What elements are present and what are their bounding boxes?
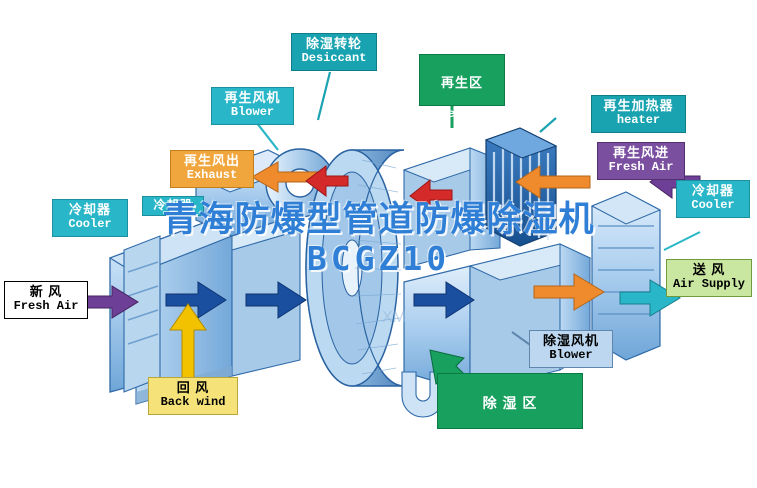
label-regeneration-area-cn: 再生区 [420, 76, 504, 91]
label-desiccant-wheel-en: Desiccant [292, 52, 376, 65]
label-cooler-right-cn: 冷却器 [677, 184, 749, 199]
label-regeneration-area-en: Regenerati on Area [420, 108, 504, 135]
label-back-wind: 回 风 Back wind [148, 377, 238, 415]
label-regeneration-area: 再生区 Regenerati on Area [419, 54, 505, 106]
faint-rotor-text: XM [382, 309, 406, 326]
label-back-wind-cn: 回 风 [149, 381, 237, 396]
label-dehumidification-district-cn: 除 湿 区 [438, 396, 582, 412]
label-regeneration-blower-cn: 再生风机 [212, 91, 293, 106]
watermark-line1: 青海防爆型管道防爆除湿机 [0, 200, 757, 240]
label-dehumidification-district: 除 湿 区 Dehumidification District [437, 373, 583, 429]
label-desiccant-wheel: 除湿转轮 Desiccant [291, 33, 377, 71]
label-desiccant-wheel-cn: 除湿转轮 [292, 37, 376, 52]
label-regeneration-fresh-air: 再生风进 Fresh Air [597, 142, 685, 180]
watermark-line2: BCGZ10 [0, 240, 757, 278]
label-regeneration-fresh-air-en: Fresh Air [598, 161, 684, 174]
label-regeneration-fresh-air-cn: 再生风进 [598, 146, 684, 161]
label-dehumidification-blower-en: Blower [530, 349, 612, 362]
label-fresh-air-cn: 新 风 [5, 285, 87, 300]
watermark-title: 青海防爆型管道防爆除湿机 BCGZ10 [0, 200, 757, 278]
label-back-wind-en: Back wind [149, 396, 237, 409]
label-fresh-air: 新 风 Fresh Air [4, 281, 88, 319]
label-exhaust-en: Exhaust [171, 169, 253, 182]
label-dehumidification-blower-cn: 除湿风机 [530, 334, 612, 349]
label-regeneration-blower-en: Blower [212, 106, 293, 119]
label-exhaust-cn: 再生风出 [171, 154, 253, 169]
label-dehumidification-district-en: Dehumidification District [438, 429, 582, 456]
diagram-canvas: XM 除湿转轮 Desiccant 再生区 Regenerati on Area… [0, 0, 757, 488]
label-regeneration-heater-en: heater [592, 114, 685, 127]
label-fresh-air-en: Fresh Air [5, 300, 87, 313]
label-regeneration-blower: 再生风机 Blower [211, 87, 294, 125]
label-air-supply-en: Air Supply [667, 278, 751, 291]
label-exhaust: 再生风出 Exhaust [170, 150, 254, 188]
label-dehumidification-blower: 除湿风机 Blower [529, 330, 613, 368]
label-regeneration-heater-cn: 再生加热器 [592, 99, 685, 114]
label-regeneration-heater: 再生加热器 heater [591, 95, 686, 133]
